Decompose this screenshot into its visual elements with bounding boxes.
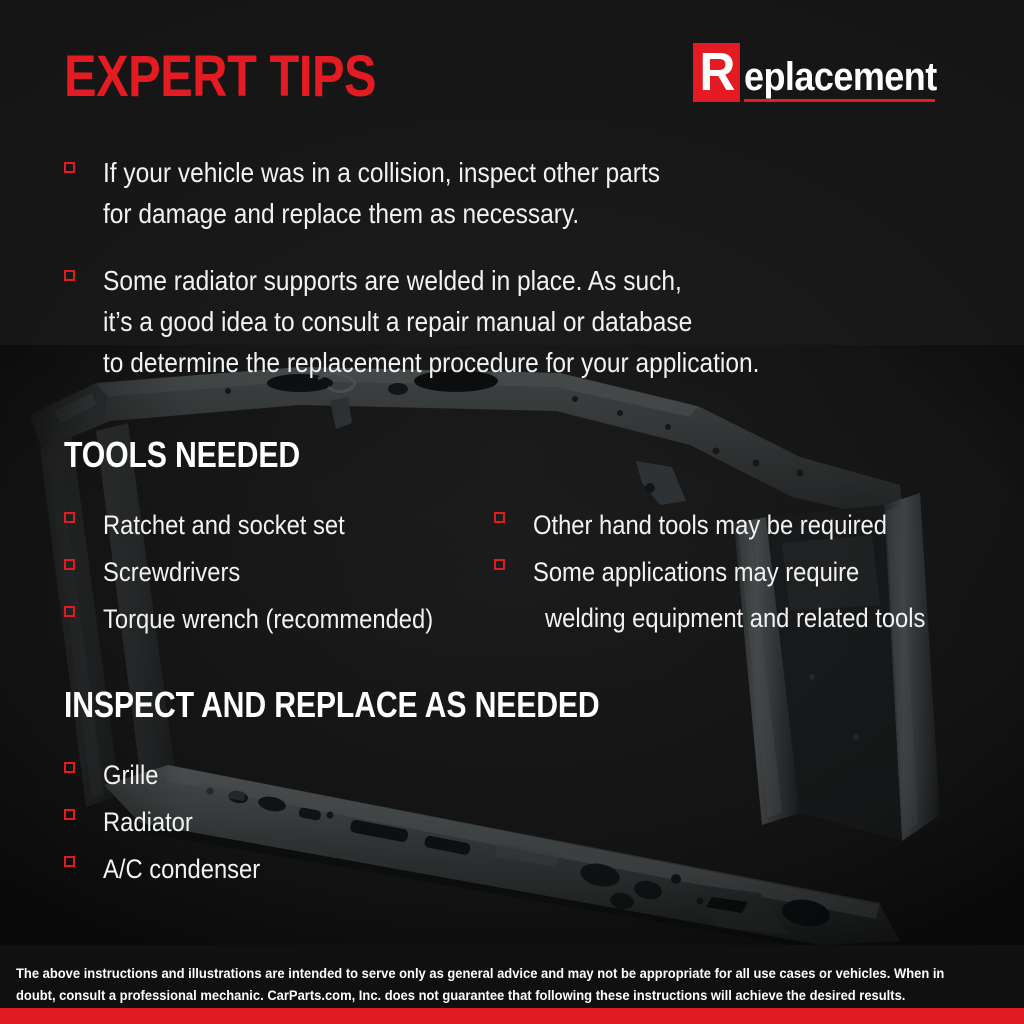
inspect-label: A/C condenser: [103, 849, 260, 889]
tool-label: Torque wrench (recommended): [103, 599, 433, 639]
inspect-label: Grille: [103, 755, 158, 795]
list-item: Some applications may require: [494, 552, 964, 592]
tip-line: it’s a good idea to consult a repair man…: [103, 301, 759, 342]
list-item: A/C condenser: [64, 849, 282, 889]
list-item: Other hand tools may be required: [494, 505, 964, 545]
list-item: Grille: [64, 755, 282, 795]
bullet-square-icon: [64, 856, 75, 867]
tool-label-continuation: welding equipment and related tools: [545, 598, 914, 638]
logo-underline: [744, 99, 935, 102]
bullet-square-icon: [64, 762, 75, 773]
bullet-square-icon: [64, 809, 75, 820]
bullet-square-icon: [64, 606, 75, 617]
tip-line: If your vehicle was in a collision, insp…: [103, 152, 660, 193]
tip-line: for damage and replace them as necessary…: [103, 193, 660, 234]
tip-line: Some radiator supports are welded in pla…: [103, 260, 759, 301]
inspect-label: Radiator: [103, 802, 193, 842]
page-title: EXPERT TIPS: [64, 48, 376, 106]
bullet-square-icon: [494, 559, 505, 570]
footer-accent-bar: [0, 1008, 1024, 1024]
list-item: Some radiator supports are welded in pla…: [64, 260, 964, 383]
expert-tips-list: If your vehicle was in a collision, insp…: [64, 152, 964, 383]
inspect-replace-list: Grille Radiator A/C condenser: [64, 755, 282, 889]
tools-column-left: Ratchet and socket set Screwdrivers Torq…: [64, 505, 494, 639]
footer-disclaimer: The above instructions and illustrations…: [16, 963, 970, 1007]
tip-line: to determine the replacement procedure f…: [103, 342, 759, 383]
tool-label: Ratchet and socket set: [103, 505, 345, 545]
logo-initial: R: [693, 43, 740, 102]
expert-tips-card: EXPERT TIPS R eplacement If your vehicle…: [0, 0, 1024, 1024]
bullet-square-icon: [64, 559, 75, 570]
tools-column-right: Other hand tools may be required Some ap…: [494, 505, 964, 639]
section-heading-tools-needed: TOOLS NEEDED: [64, 436, 300, 474]
tool-label: Screwdrivers: [103, 552, 240, 592]
list-item: Ratchet and socket set: [64, 505, 494, 545]
list-item: Screwdrivers: [64, 552, 494, 592]
bullet-square-icon: [64, 270, 75, 281]
tools-needed-columns: Ratchet and socket set Screwdrivers Torq…: [64, 505, 984, 639]
tool-label: Other hand tools may be required: [533, 505, 887, 545]
logo-wordmark-wrap: eplacement: [744, 57, 958, 102]
replacement-brand-logo: R eplacement: [693, 44, 958, 102]
list-item: If your vehicle was in a collision, insp…: [64, 152, 964, 234]
bullet-square-icon: [64, 162, 75, 173]
tip-text: If your vehicle was in a collision, insp…: [103, 152, 740, 234]
list-item: Radiator: [64, 802, 282, 842]
tip-text: Some radiator supports are welded in pla…: [103, 260, 853, 383]
header: EXPERT TIPS R eplacement: [0, 0, 1024, 135]
list-item: Torque wrench (recommended): [64, 599, 494, 639]
bullet-square-icon: [64, 512, 75, 523]
logo-wordmark: eplacement: [744, 57, 937, 97]
bullet-square-icon: [494, 512, 505, 523]
footer: The above instructions and illustrations…: [0, 945, 1024, 1024]
section-heading-inspect-and-replace: INSPECT AND REPLACE AS NEEDED: [64, 686, 600, 724]
tool-label: Some applications may require: [533, 552, 859, 592]
